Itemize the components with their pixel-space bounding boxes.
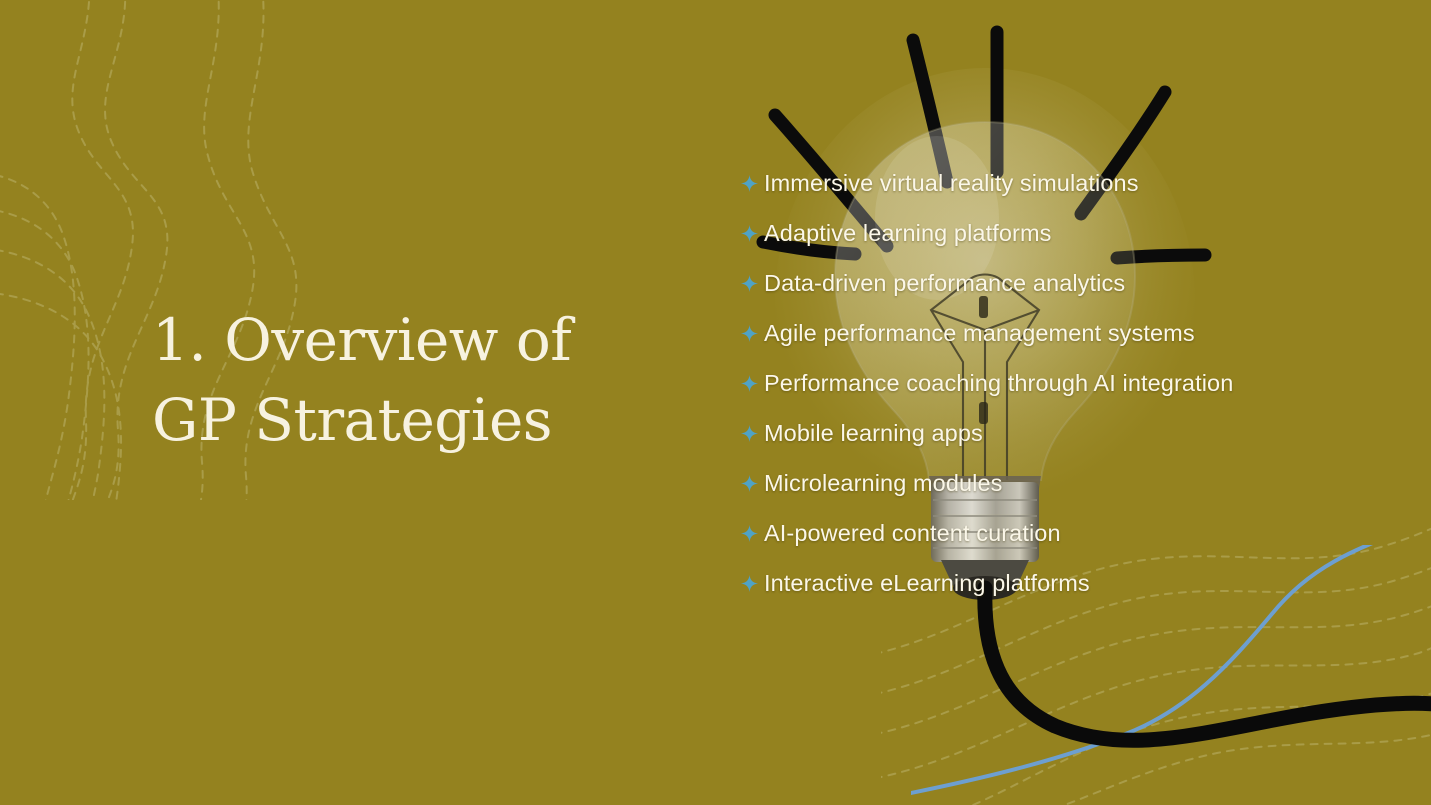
- four-point-sparkle-icon: [738, 408, 762, 458]
- list-item-label: Mobile learning apps: [764, 408, 1398, 458]
- list-item-label: Immersive virtual reality simulations: [764, 158, 1398, 208]
- title-line-1: 1. Overview of: [152, 300, 672, 380]
- list-item: Adaptive learning platforms: [738, 208, 1398, 258]
- list-item-label: AI-powered content curation: [764, 508, 1398, 558]
- list-item: Immersive virtual reality simulations: [738, 158, 1398, 208]
- list-item: Agile performance management systems: [738, 308, 1398, 358]
- list-item-label: Interactive eLearning platforms: [764, 558, 1398, 608]
- list-item: Interactive eLearning platforms: [738, 558, 1398, 608]
- four-point-sparkle-icon: [738, 308, 762, 358]
- page-title: 1. Overview of GP Strategies: [152, 300, 672, 460]
- four-point-sparkle-icon: [738, 208, 762, 258]
- list-item-label: Performance coaching through AI integrat…: [764, 358, 1398, 408]
- title-line-2: GP Strategies: [152, 380, 672, 460]
- four-point-sparkle-icon: [738, 508, 762, 558]
- four-point-sparkle-icon: [738, 258, 762, 308]
- strategy-feature-list: Immersive virtual reality simulations Ad…: [738, 158, 1398, 608]
- list-item-label: Data-driven performance analytics: [764, 258, 1398, 308]
- list-item-label: Agile performance management systems: [764, 308, 1398, 358]
- list-item: Performance coaching through AI integrat…: [738, 358, 1398, 408]
- presentation-slide: 1. Overview of GP Strategies Immersive v…: [0, 0, 1431, 805]
- list-item: Mobile learning apps: [738, 408, 1398, 458]
- list-item-label: Microlearning modules: [764, 458, 1398, 508]
- four-point-sparkle-icon: [738, 358, 762, 408]
- list-item: Microlearning modules: [738, 458, 1398, 508]
- list-item: AI-powered content curation: [738, 508, 1398, 558]
- four-point-sparkle-icon: [738, 558, 762, 608]
- list-item-label: Adaptive learning platforms: [764, 208, 1398, 258]
- four-point-sparkle-icon: [738, 458, 762, 508]
- list-item: Data-driven performance analytics: [738, 258, 1398, 308]
- four-point-sparkle-icon: [738, 158, 762, 208]
